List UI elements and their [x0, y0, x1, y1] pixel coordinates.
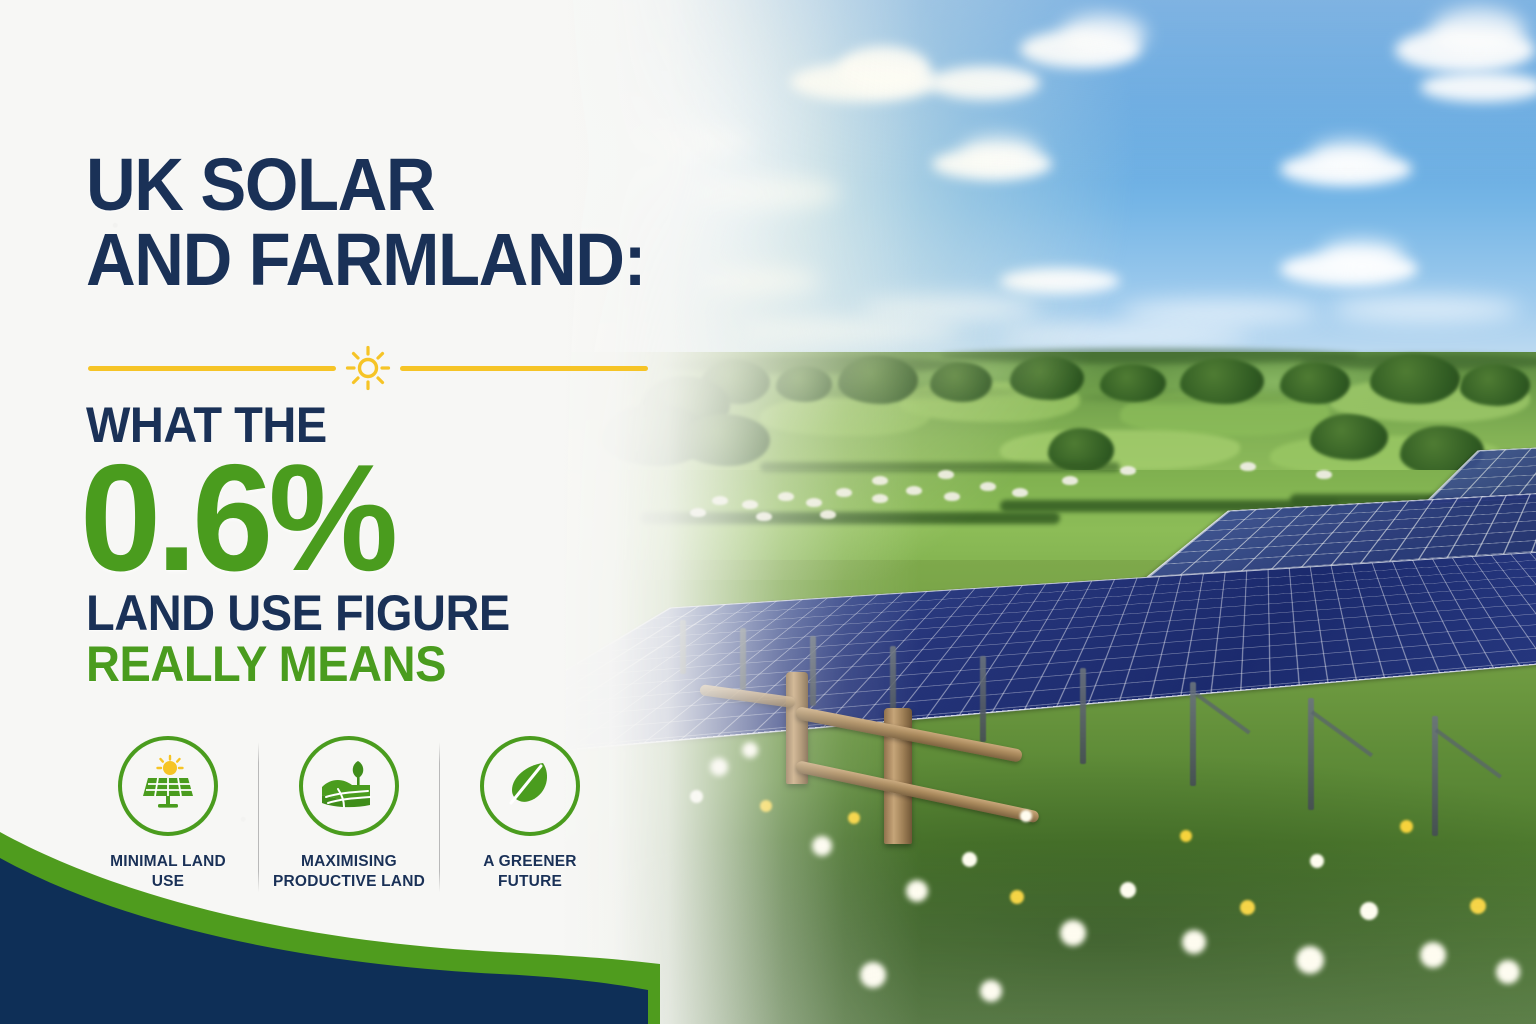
feature-row: MINIMAL LAND USE: [78, 736, 678, 892]
feature-label: A GREENER FUTURE: [483, 852, 576, 892]
feature-label-line-2: PRODUCTIVE LAND: [273, 873, 425, 890]
cloud: [1330, 296, 1520, 322]
infographic-canvas: UK SOLAR AND FARMLAND:: [0, 0, 1536, 1024]
feature-label: MINIMAL LAND USE: [110, 852, 226, 892]
solar-panel-icon: [138, 754, 198, 819]
wildflower: [980, 980, 1002, 1002]
wildflower: [1420, 942, 1446, 968]
subheadline-land-use-figure: LAND USE FIGURE: [86, 588, 706, 639]
tree-clump: [1460, 364, 1530, 406]
feature-minimal-land-use: MINIMAL LAND USE: [78, 736, 258, 892]
cloud: [930, 66, 1040, 100]
panel-support-leg: [810, 636, 816, 706]
panel-brace: [1311, 710, 1373, 757]
wildflower: [848, 812, 860, 824]
feature-icon-circle: [480, 736, 580, 836]
cloud: [1120, 300, 1320, 324]
feature-label-line-1: MINIMAL LAND: [110, 853, 226, 870]
tree-clump: [1370, 354, 1460, 404]
cloud: [1430, 8, 1526, 56]
cloud: [1420, 72, 1536, 102]
cloud: [740, 320, 960, 342]
wildflower: [1060, 920, 1086, 946]
panel-brace: [1435, 728, 1502, 778]
leaf-icon: [501, 755, 559, 818]
cloud: [860, 296, 1040, 320]
feature-label-line-2: USE: [152, 873, 184, 890]
wildflower: [906, 880, 928, 902]
title-line-1: UK SOLAR: [86, 152, 700, 219]
feature-icon-circle: [118, 736, 218, 836]
statistic-value: 0.6%: [80, 452, 719, 586]
wildflower: [760, 800, 772, 812]
wildflower: [1400, 820, 1413, 833]
subheadline: WHAT THE 0.6% LAND USE FIGURE REALLY MEA…: [86, 400, 746, 690]
tree-clump: [1100, 364, 1166, 402]
tree-clump: [838, 356, 918, 404]
cloud: [960, 136, 1040, 170]
wildflower: [812, 836, 832, 856]
panel-support-leg: [1432, 716, 1438, 836]
feature-label-line-1: MAXIMISING: [301, 853, 397, 870]
cloud: [1320, 240, 1404, 272]
wildflower: [1496, 960, 1520, 984]
content-panel: UK SOLAR AND FARMLAND:: [0, 0, 760, 1024]
tree-clump: [776, 366, 832, 402]
sun-divider: [88, 340, 648, 396]
wildflower: [1240, 900, 1255, 915]
wildflower: [1020, 810, 1032, 822]
feature-label: MAXIMISING PRODUCTIVE LAND: [273, 852, 425, 892]
subheadline-really-means: REALLY MEANS: [86, 639, 706, 690]
panel-support-leg: [1080, 668, 1086, 764]
panel-brace: [1195, 692, 1251, 734]
cloud: [838, 46, 930, 92]
cloud: [1000, 326, 1250, 346]
wildflower: [1310, 854, 1324, 868]
solar-panel-row: [1423, 428, 1536, 505]
feature-maximising-productive-land: MAXIMISING PRODUCTIVE LAND: [259, 736, 439, 892]
tree-clump: [1180, 358, 1264, 404]
wildflower: [1296, 946, 1324, 974]
divider-bar-right: [400, 366, 648, 371]
wildflower: [1120, 882, 1136, 898]
panel-support-leg: [980, 656, 986, 742]
page-title: UK SOLAR AND FARMLAND:: [86, 152, 746, 293]
wildflower: [1180, 830, 1192, 842]
cloud: [1310, 140, 1388, 172]
wildflower: [1010, 890, 1024, 904]
sun-icon: [336, 340, 400, 396]
wildflower: [1360, 902, 1378, 920]
feature-a-greener-future: A GREENER FUTURE: [440, 736, 620, 892]
feature-label-line-2: FUTURE: [498, 873, 562, 890]
hedge-line: [940, 348, 1360, 364]
tree-clump: [1280, 362, 1350, 404]
feature-label-line-1: A GREENER: [483, 853, 576, 870]
wildflower: [1470, 898, 1486, 914]
feature-icon-circle: [299, 736, 399, 836]
cloud: [1060, 14, 1146, 56]
tree-clump: [930, 362, 992, 402]
tree-clump: [1010, 356, 1084, 400]
wildflower: [1182, 930, 1206, 954]
farmland-field-icon: [318, 753, 380, 820]
cloud: [1000, 268, 1120, 294]
title-line-2: AND FARMLAND:: [86, 227, 700, 294]
wildflower: [962, 852, 977, 867]
panel-support-leg: [1190, 682, 1196, 786]
wildflower: [860, 962, 886, 988]
divider-bar-left: [88, 366, 336, 371]
